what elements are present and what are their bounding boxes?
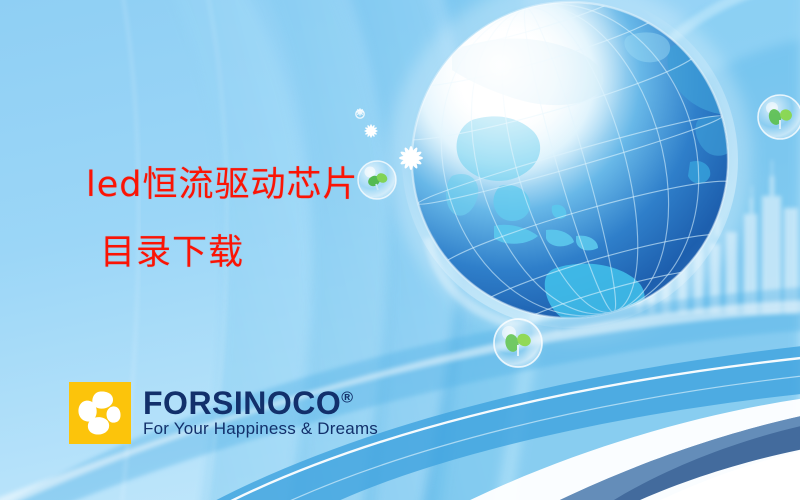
four-petal-pinwheel-icon xyxy=(69,382,131,444)
forsinoco-logo[interactable]: FORSINOCO® For Your Happiness & Dreams xyxy=(69,382,378,444)
logo-tagline: For Your Happiness & Dreams xyxy=(143,420,378,439)
headline-line-2: 目录下载 xyxy=(100,236,244,271)
banner-canvas: led恒流驱动芯片 目录下载 FORSINOCO® xyxy=(0,0,800,500)
headline-line-1: led恒流驱动芯片 xyxy=(86,168,358,203)
logo-text-block: FORSINOCO® For Your Happiness & Dreams xyxy=(143,387,378,439)
logo-wordmark: FORSINOCO® xyxy=(143,387,378,420)
pinwheel-petals xyxy=(69,382,131,444)
registered-trademark-icon: ® xyxy=(341,389,353,406)
logo-wordmark-text: FORSINOCO xyxy=(143,385,341,421)
